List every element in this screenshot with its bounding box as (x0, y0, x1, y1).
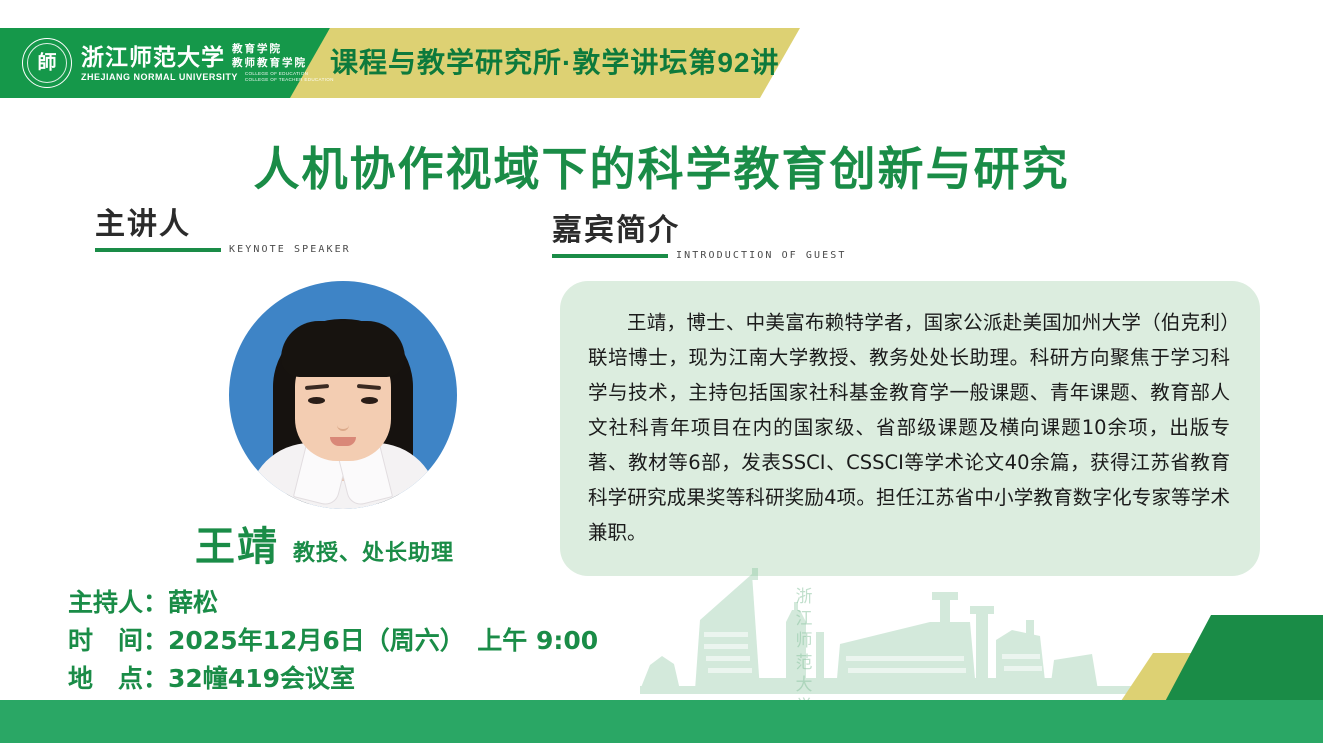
page-title: 人机协作视域下的科学教育创新与研究 (0, 133, 1323, 199)
bottom-green-bar (0, 700, 1323, 743)
section-heading-guest: 嘉宾简介 INTRODUCTION OF GUEST (552, 214, 847, 261)
guest-bio-box: 王靖，博士、中美富布赖特学者，国家公派赴美国加州大学（伯克利）联培博士，现为江南… (560, 281, 1260, 576)
speaker-role: 教授、处长助理 (293, 535, 454, 567)
portrait-nose (337, 413, 349, 431)
event-details: 主持人：薛松 时 间：2025年12月6日（周六） 上午 9:00 地 点：32… (68, 584, 598, 698)
university-seal-icon: 師 (22, 38, 72, 88)
logo-college-cn-line1: 教育学院 (232, 43, 307, 56)
university-logo: 師 浙江师范大学 教育学院 教师教育学院 ZHEJIANG NORMAL UNI… (22, 36, 334, 90)
section-heading-guest-en: INTRODUCTION OF GUEST (676, 250, 847, 261)
poster-root: 课程与教学研究所·敦学讲坛第92讲 師 浙江师范大学 教育学院 教师教育学院 Z… (0, 0, 1323, 743)
heading-rule (552, 254, 668, 258)
logo-university-en: ZHEJIANG NORMAL UNIVERSITY (81, 73, 238, 83)
speaker-name: 王靖 (195, 514, 279, 572)
banner-title: 课程与教学研究所·敦学讲坛第92讲 (330, 28, 779, 98)
speaker-portrait (229, 281, 457, 509)
event-place-value: 32幢419会议室 (168, 664, 355, 693)
seal-glyph: 師 (37, 54, 56, 73)
portrait-eye-left (308, 397, 325, 404)
portrait-eye-right (361, 397, 378, 404)
section-heading-guest-cn: 嘉宾简介 (552, 214, 847, 247)
portrait-fringe (281, 321, 405, 377)
logo-primary-row: 浙江师范大学 教育学院 教师教育学院 (81, 43, 334, 69)
logo-university-cn: 浙江师范大学 (81, 46, 225, 70)
section-heading-speaker-en: KEYNOTE SPEAKER (229, 244, 351, 255)
campus-skyline-watermark (640, 560, 1180, 700)
speaker-name-row: 王靖 教授、处长助理 (195, 514, 454, 572)
event-time-line: 时 间：2025年12月6日（周六） 上午 9:00 (68, 622, 598, 660)
event-time-value: 2025年12月6日（周六） 上午 9:00 (168, 626, 598, 655)
logo-college-en-line2: COLLEGE OF TEACHER EDUCATION (245, 77, 334, 83)
section-heading-speaker: 主讲人 KEYNOTE SPEAKER (95, 208, 351, 255)
event-host-label: 主持人： (68, 584, 168, 622)
logo-text-block: 浙江师范大学 教育学院 教师教育学院 ZHEJIANG NORMAL UNIVE… (81, 43, 334, 82)
section-heading-speaker-cn: 主讲人 (95, 208, 351, 241)
logo-college-cn-line2: 教师教育学院 (232, 57, 307, 70)
logo-college-cn-col: 教育学院 教师教育学院 (232, 43, 307, 69)
logo-secondary-row: ZHEJIANG NORMAL UNIVERSITY COLLEGE OF ED… (81, 71, 334, 83)
guest-bio-text: 王靖，博士、中美富布赖特学者，国家公派赴美国加州大学（伯克利）联培博士，现为江南… (588, 305, 1230, 550)
event-place-label: 地 点： (68, 660, 168, 698)
campus-watermark-text: 浙江师范大学 (791, 586, 817, 718)
event-host-value: 薛松 (168, 588, 218, 617)
heading-rule (95, 248, 221, 252)
event-time-label: 时 间： (68, 622, 168, 660)
section-heading-speaker-underline: KEYNOTE SPEAKER (95, 244, 351, 255)
section-heading-guest-underline: INTRODUCTION OF GUEST (552, 250, 847, 261)
event-place-line: 地 点：32幢419会议室 (68, 660, 598, 698)
event-host-line: 主持人：薛松 (68, 584, 598, 622)
logo-college-en-col: COLLEGE OF EDUCATION COLLEGE OF TEACHER … (245, 71, 334, 83)
